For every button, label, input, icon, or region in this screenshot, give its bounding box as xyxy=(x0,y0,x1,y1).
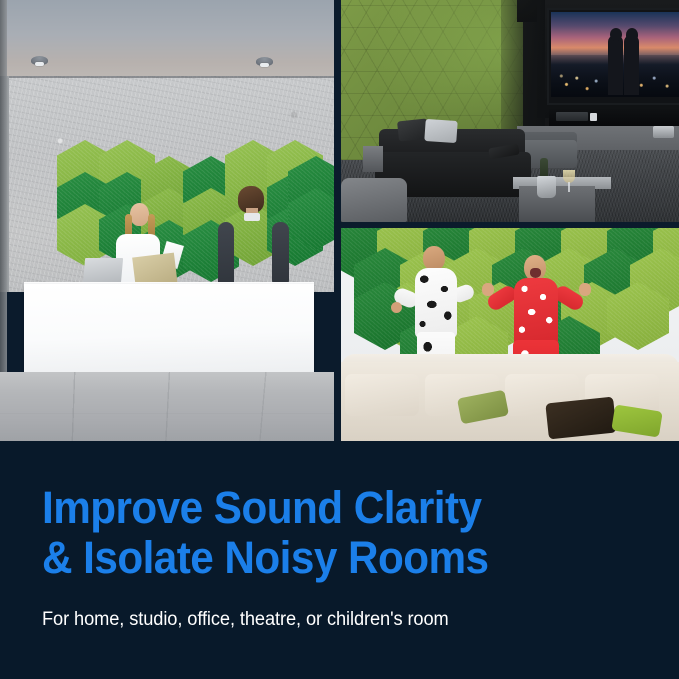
headline-line-1: Improve Sound Clarity xyxy=(42,482,481,533)
child-hand xyxy=(579,283,591,296)
screen-silhouette-head xyxy=(626,28,638,42)
screen-silhouette-figure xyxy=(608,35,623,95)
throw-pillow xyxy=(545,397,616,440)
page-title: Improve Sound Clarity & Isolate Noisy Ro… xyxy=(42,483,641,583)
receptionist-head xyxy=(130,203,149,226)
headline-line-2: & Isolate Noisy Rooms xyxy=(42,533,641,583)
product-infographic: Improve Sound Clarity & Isolate Noisy Ro… xyxy=(0,0,679,679)
home-theater-photo xyxy=(341,0,679,222)
sofa-cushion xyxy=(424,119,457,143)
wine-glass-stem xyxy=(568,182,570,192)
ice-bucket xyxy=(537,176,556,198)
coffee-table-base xyxy=(519,186,595,222)
children-room-photo xyxy=(341,228,679,441)
armchair xyxy=(341,178,407,222)
tiled-floor xyxy=(0,372,334,441)
ceiling-sprinkler-icon xyxy=(256,57,273,66)
speaker-unit xyxy=(590,113,597,121)
subtitle: For home, studio, office, theatre, or ch… xyxy=(42,609,654,631)
image-collage xyxy=(0,0,679,441)
child-hand xyxy=(482,283,494,296)
screen-silhouette-figure xyxy=(624,35,639,95)
businessman-collar xyxy=(244,213,260,221)
laptop-screen xyxy=(83,258,123,284)
ceiling xyxy=(0,0,334,78)
child-torso xyxy=(514,278,558,346)
wall-seam xyxy=(0,76,334,78)
projector-device xyxy=(653,126,674,138)
reception-desk xyxy=(24,284,314,376)
screen-silhouette-head xyxy=(610,28,622,41)
child-torso xyxy=(415,268,457,338)
child-mouth xyxy=(530,268,541,278)
wall-corner-shadow xyxy=(0,0,7,372)
headline-banner: Improve Sound Clarity & Isolate Noisy Ro… xyxy=(0,441,679,679)
av-receiver xyxy=(556,112,588,121)
sofa-cushion xyxy=(345,374,419,416)
ceiling-sprinkler-icon xyxy=(31,56,48,65)
child-hand xyxy=(391,302,402,313)
side-table xyxy=(363,146,383,172)
banner-content: Improve Sound Clarity & Isolate Noisy Ro… xyxy=(0,441,679,631)
floor-tile-lines xyxy=(0,372,334,441)
office-reception-photo xyxy=(0,0,334,441)
